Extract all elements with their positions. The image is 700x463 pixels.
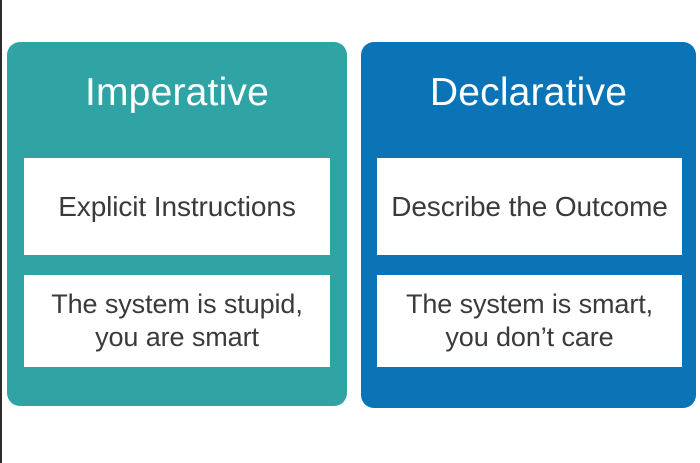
panel-imperative: Imperative Explicit Instructions The sys… — [7, 42, 347, 406]
card-system-smart-label: The system is smart, you don’t care — [406, 288, 653, 354]
panel-declarative-title: Declarative — [361, 70, 696, 116]
card-system-smart: The system is smart, you don’t care — [377, 275, 682, 367]
panel-imperative-title: Imperative — [7, 70, 347, 116]
card-system-stupid-label: The system is stupid, you are smart — [51, 288, 303, 354]
panel-declarative: Declarative Describe the Outcome The sys… — [361, 42, 696, 408]
card-describe-the-outcome: Describe the Outcome — [377, 158, 682, 255]
card-system-stupid: The system is stupid, you are smart — [24, 275, 330, 367]
left-edge-rule — [0, 0, 2, 463]
card-explicit-instructions-label: Explicit Instructions — [58, 190, 296, 224]
slide-canvas: Imperative Explicit Instructions The sys… — [0, 0, 700, 463]
card-explicit-instructions: Explicit Instructions — [24, 158, 330, 255]
card-describe-the-outcome-label: Describe the Outcome — [391, 190, 668, 224]
